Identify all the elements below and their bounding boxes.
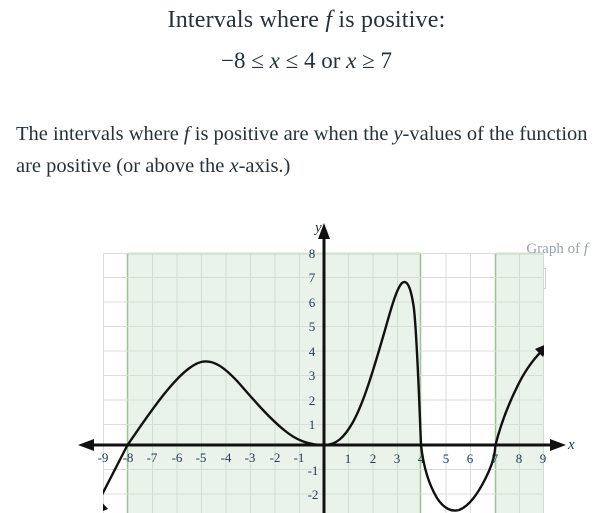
x-axis-arrow-right [550, 439, 566, 451]
svg-text:-4: -4 [221, 450, 232, 465]
answer-variable-x-1: x [270, 48, 280, 73]
y-axis-arrow-up [318, 223, 330, 239]
svg-text:9: 9 [540, 451, 547, 466]
coordinate-plane: -9 -8 -7 -6 -5 -4 -3 -2 -1 1 2 3 4 5 6 7… [0, 215, 613, 513]
svg-text:7: 7 [309, 270, 316, 285]
svg-text:1: 1 [309, 417, 316, 432]
title-suffix: is positive: [332, 7, 445, 33]
svg-text:3: 3 [309, 368, 316, 383]
svg-text:2: 2 [309, 393, 316, 408]
x-axis-arrow-left [78, 439, 94, 451]
explanation-paragraph: The intervals where f is positive are wh… [16, 118, 602, 182]
paragraph-segment-2: is positive are when the [190, 123, 394, 145]
svg-text:6: 6 [467, 451, 474, 466]
shaded-region-left [127, 253, 421, 513]
svg-text:-3: -3 [245, 450, 256, 465]
svg-text:-9: -9 [98, 450, 109, 465]
svg-text:-2: -2 [308, 487, 319, 502]
answer-part-1: −8 ≤ [221, 48, 270, 73]
svg-text:-1: -1 [294, 450, 305, 465]
answer-expression: −8 ≤ x ≤ 4 or x ≥ 7 [0, 44, 613, 78]
paragraph-segment-1: The intervals where [16, 123, 184, 145]
svg-text:-7: -7 [147, 450, 158, 465]
svg-text:8: 8 [309, 246, 316, 261]
title-prefix: Intervals where [168, 7, 326, 33]
answer-part-3: ≥ 7 [356, 48, 392, 73]
page-title: Intervals where f is positive: [0, 4, 613, 36]
svg-text:6: 6 [309, 295, 316, 310]
svg-text:-6: -6 [172, 450, 183, 465]
paragraph-variable-x: x [229, 155, 238, 177]
paragraph-segment-4: -axis.) [239, 155, 291, 177]
page-root: Intervals where f is positive: −8 ≤ x ≤ … [0, 0, 613, 513]
svg-text:-5: -5 [196, 450, 207, 465]
svg-text:-1: -1 [308, 463, 319, 478]
svg-text:2: 2 [370, 451, 377, 466]
svg-text:5: 5 [309, 319, 316, 334]
svg-text:-2: -2 [270, 450, 281, 465]
answer-variable-x-2: x [346, 48, 356, 73]
answer-part-2: ≤ 4 or [280, 48, 346, 73]
graph-panel: Graph of f y x positive positive [0, 215, 613, 513]
svg-text:3: 3 [394, 451, 401, 466]
heading-block: Intervals where f is positive: −8 ≤ x ≤ … [0, 4, 613, 78]
svg-text:8: 8 [516, 451, 523, 466]
svg-text:1: 1 [345, 451, 352, 466]
svg-text:5: 5 [443, 451, 450, 466]
paragraph-variable-y: y [393, 123, 402, 145]
svg-text:4: 4 [309, 344, 316, 359]
